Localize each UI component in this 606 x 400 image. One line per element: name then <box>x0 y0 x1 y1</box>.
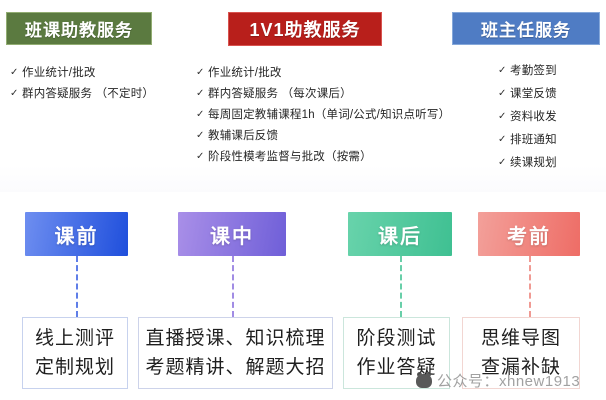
list-item-label: 作业统计/批改 <box>208 66 282 80</box>
list-item-label: 作业统计/批改 <box>22 66 96 80</box>
check-icon: ✓ <box>498 133 510 147</box>
check-icon: ✓ <box>498 64 510 78</box>
list-item-label: 课堂反馈 <box>510 87 557 101</box>
check-icon: ✓ <box>498 110 510 124</box>
list-item: ✓ 作业统计/批改 <box>196 66 450 80</box>
connector-line-after-class <box>400 256 402 317</box>
banner-head-teacher-service: 班主任服务 <box>452 12 600 45</box>
connector-line-before-class <box>76 256 78 317</box>
stage-chip-after-class: 课后 <box>348 212 452 256</box>
check-icon: ✓ <box>196 129 208 143</box>
stage-detail-line-1: 思维导图 <box>481 324 561 353</box>
list-item: ✓ 续课规划 <box>498 156 557 170</box>
check-icon: ✓ <box>10 87 22 101</box>
stage-detail-line-1: 阶段测试 <box>356 324 436 353</box>
list-item: ✓ 资料收发 <box>498 110 557 124</box>
banner-1v1-assistant-service: 1V1助教服务 <box>228 12 382 46</box>
check-icon: ✓ <box>196 66 208 80</box>
list-item-label: 群内答疑服务 （不定时） <box>22 87 154 101</box>
check-icon: ✓ <box>10 66 22 80</box>
stage-chip-before-exam: 考前 <box>478 212 580 256</box>
service-list-head-teacher: ✓ 考勤签到 ✓ 课堂反馈 ✓ 资料收发 ✓ 排班通知 ✓ 续课规划 <box>498 64 557 179</box>
list-item-label: 阶段性模考监督与批改（按需） <box>208 150 372 164</box>
list-item: ✓ 每周固定教辅课程1h（单词/公式/知识点听写） <box>196 108 450 122</box>
stage-chip-during-class: 课中 <box>178 212 286 256</box>
stage-chip-before-class: 课前 <box>25 212 128 256</box>
service-overview-section: 班课助教服务 1V1助教服务 班主任服务 ✓ 作业统计/批改 ✓ 群内答疑服务 … <box>0 0 606 192</box>
stage-detail-line-1: 线上测评 <box>35 324 115 353</box>
check-icon: ✓ <box>196 87 208 101</box>
stage-detail-box-before-exam: 思维导图 查漏补缺 <box>462 317 580 389</box>
list-item: ✓ 群内答疑服务 （每次课后） <box>196 87 450 101</box>
check-icon: ✓ <box>196 108 208 122</box>
check-icon: ✓ <box>498 156 510 170</box>
list-item: ✓ 作业统计/批改 <box>10 66 154 80</box>
list-item-label: 考勤签到 <box>510 64 557 78</box>
stage-detail-line-2: 定制规划 <box>35 353 115 382</box>
stage-chip-label: 课中 <box>210 220 254 249</box>
list-item-label: 排班通知 <box>510 133 557 147</box>
list-item: ✓ 排班通知 <box>498 133 557 147</box>
check-icon: ✓ <box>498 87 510 101</box>
banner-label: 1V1助教服务 <box>249 16 360 42</box>
connector-line-during-class <box>232 256 234 317</box>
banner-class-assistant-service: 班课助教服务 <box>6 12 152 45</box>
list-item-label: 群内答疑服务 （每次课后） <box>208 87 352 101</box>
list-item: ✓ 阶段性模考监督与批改（按需） <box>196 150 450 164</box>
stage-detail-line-2: 查漏补缺 <box>481 353 561 382</box>
list-item-label: 每周固定教辅课程1h（单词/公式/知识点听写） <box>208 108 450 122</box>
check-icon: ✓ <box>196 150 208 164</box>
list-item-label: 续课规划 <box>510 156 557 170</box>
stage-detail-box-during-class: 直播授课、知识梳理 考题精讲、解题大招 <box>138 317 333 389</box>
list-item: ✓ 考勤签到 <box>498 64 557 78</box>
connector-line-before-exam <box>529 256 531 317</box>
service-list-class-assistant: ✓ 作业统计/批改 ✓ 群内答疑服务 （不定时） <box>10 66 154 108</box>
banner-label: 班主任服务 <box>481 16 571 41</box>
stage-detail-box-before-class: 线上测评 定制规划 <box>22 317 128 389</box>
list-item: ✓ 课堂反馈 <box>498 87 557 101</box>
list-item: ✓ 教辅课后反馈 <box>196 129 450 143</box>
stage-detail-line-2: 作业答疑 <box>356 353 436 382</box>
list-item: ✓ 群内答疑服务 （不定时） <box>10 87 154 101</box>
stage-detail-line-1: 直播授课、知识梳理 <box>145 324 325 353</box>
stage-detail-box-after-class: 阶段测试 作业答疑 <box>343 317 450 389</box>
stage-chip-label: 课后 <box>378 220 422 249</box>
list-item-label: 资料收发 <box>510 110 557 124</box>
list-item-label: 教辅课后反馈 <box>208 129 278 143</box>
stage-detail-line-2: 考题精讲、解题大招 <box>145 353 325 382</box>
infographic-canvas: 班课助教服务 1V1助教服务 班主任服务 ✓ 作业统计/批改 ✓ 群内答疑服务 … <box>0 0 606 400</box>
stage-chip-label: 考前 <box>507 220 551 249</box>
stage-chip-label: 课前 <box>55 220 99 249</box>
service-list-1v1-assistant: ✓ 作业统计/批改 ✓ 群内答疑服务 （每次课后） ✓ 每周固定教辅课程1h（单… <box>196 66 450 171</box>
banner-label: 班课助教服务 <box>25 16 133 41</box>
